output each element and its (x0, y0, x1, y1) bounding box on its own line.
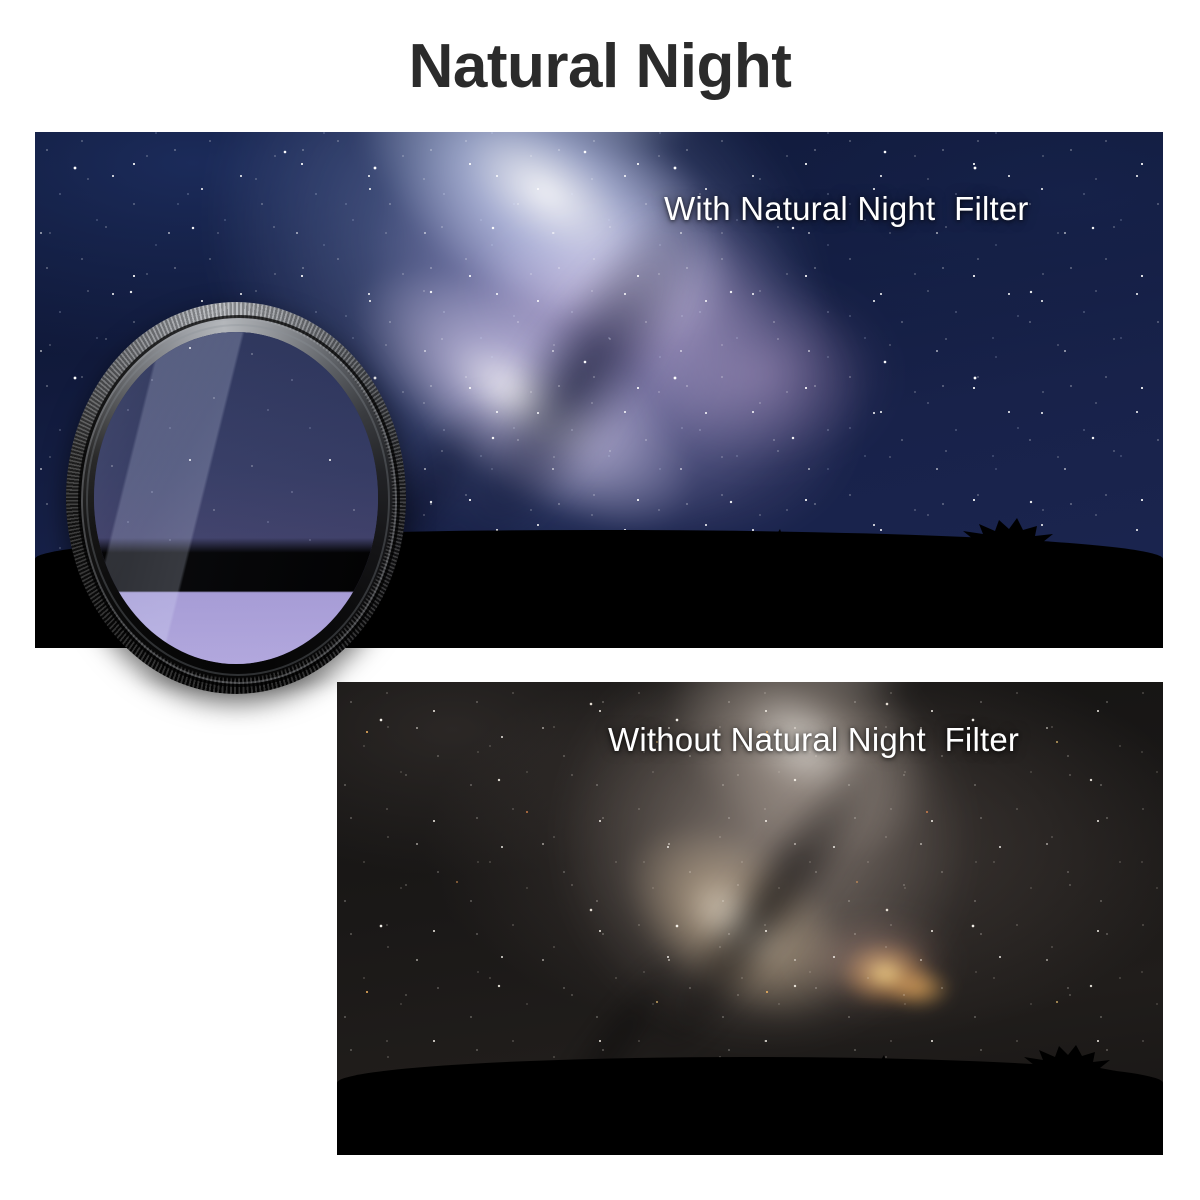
product-comparison-page: Natural Night With Nat (0, 0, 1200, 1200)
filter-glass-stars (94, 332, 378, 553)
natural-night-filter-product (66, 302, 406, 694)
tree-silhouette-small-top (749, 520, 801, 582)
caption-with-filter: With Natural Night Filter (664, 190, 1029, 228)
photo-without-filter: Without Natural Night Filter (337, 682, 1163, 1155)
caption-without-filter: Without Natural Night Filter (608, 721, 1019, 759)
filter-glass-element (94, 332, 378, 664)
tree-silhouette-small-bottom (855, 1047, 903, 1105)
page-title: Natural Night (0, 34, 1200, 99)
tree-silhouette-large-bottom (1005, 1041, 1123, 1109)
tree-silhouette-large-top (943, 514, 1067, 586)
